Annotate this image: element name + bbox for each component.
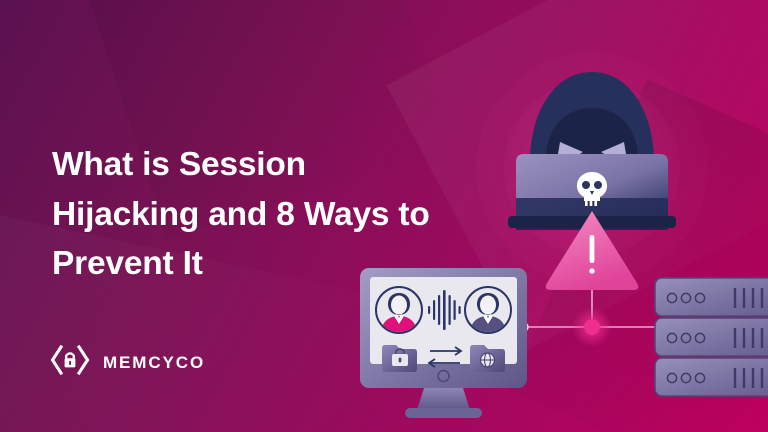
banner: What is Session Hijacking and 8 Ways to … xyxy=(0,0,768,432)
chevron-lock-icon xyxy=(50,345,90,380)
logo-wordmark: MEMCYCO xyxy=(103,353,205,373)
folder-network xyxy=(470,345,505,372)
server-unit xyxy=(655,358,768,396)
folder-secure xyxy=(382,345,417,372)
hooded-hacker xyxy=(516,72,668,230)
avatar-user-left xyxy=(376,287,422,334)
avatar-user-right xyxy=(465,287,511,334)
server-unit xyxy=(655,318,768,356)
skull-icon xyxy=(577,172,607,206)
glowing-eyes xyxy=(558,142,626,160)
data-exchange-arrows xyxy=(429,347,461,367)
logo[interactable]: MEMCYCO xyxy=(50,345,205,380)
warning-triangle xyxy=(546,211,639,290)
page-title: What is Session Hijacking and 8 Ways to … xyxy=(52,140,462,288)
hacker-glow-rings xyxy=(476,52,708,284)
server-unit xyxy=(655,278,768,316)
audio-waveform xyxy=(428,290,461,330)
user-monitor xyxy=(360,268,527,418)
connection-line xyxy=(520,262,664,347)
laptop xyxy=(508,154,676,228)
background-shard xyxy=(509,79,768,432)
server-rack xyxy=(655,278,768,396)
